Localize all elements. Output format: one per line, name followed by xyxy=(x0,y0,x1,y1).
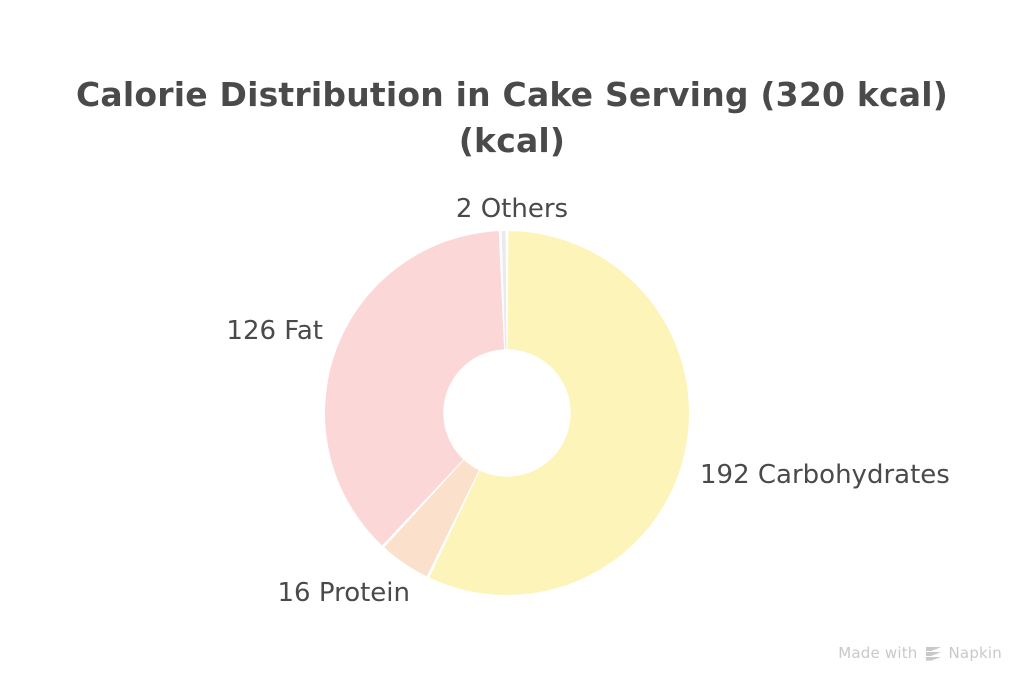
page-title: Calorie Distribution in Cake Serving (32… xyxy=(0,72,1024,164)
napkin-watermark: Made with Napkin xyxy=(838,644,1002,662)
watermark-brand: Napkin xyxy=(949,644,1003,662)
watermark-prefix: Made with xyxy=(838,644,917,662)
slice-label-protein: 16 Protein xyxy=(0,578,410,608)
slice-label-carbohydrates: 192 Carbohydrates xyxy=(700,460,950,490)
donut-slice-group xyxy=(325,231,689,595)
donut-chart-svg xyxy=(325,231,689,595)
donut-chart xyxy=(325,231,689,595)
slice-label-fat: 126 Fat xyxy=(0,316,331,346)
napkin-chevron-logo-icon xyxy=(925,646,942,661)
slice-label-others: 2 Others xyxy=(0,194,1024,224)
chart-page: Calorie Distribution in Cake Serving (32… xyxy=(0,0,1024,688)
